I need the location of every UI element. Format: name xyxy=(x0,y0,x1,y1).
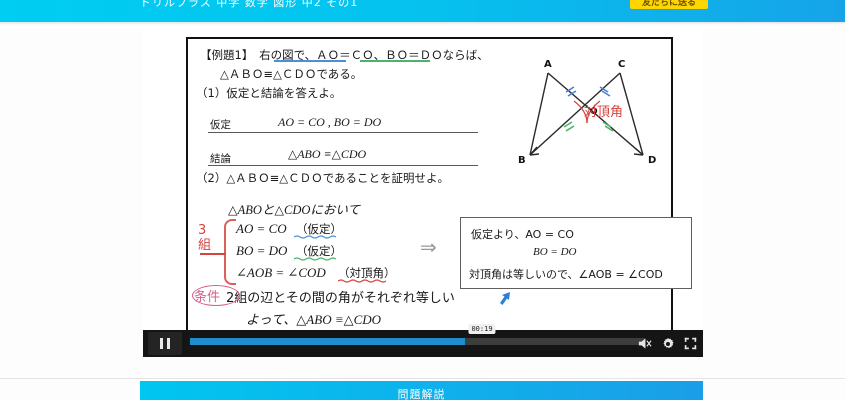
pause-icon-bar-right xyxy=(167,338,170,349)
red-brace-annotation xyxy=(224,219,236,285)
proof-therefore: よって、△ABO ≡△CDO xyxy=(246,309,381,328)
worksheet-document: 【例題1】 右の図で、ＡＯ＝ＣＯ、ＢＯ＝ＤＯならば、 △ＡＢＯ≡△ＣＤＯである。… xyxy=(186,37,673,337)
fullscreen-button[interactable] xyxy=(684,337,697,350)
conclusion-value: △ABO ≡△CDO xyxy=(288,147,366,162)
proof-statement-3: ∠AOB = ∠COD xyxy=(236,265,326,281)
wavy-underline-blue xyxy=(294,235,340,238)
seek-progress-fill xyxy=(190,338,465,345)
play-pause-button[interactable] xyxy=(148,332,182,355)
share-button[interactable]: 友だちに送る xyxy=(630,0,708,9)
geometry-figure: A C B D O 対頂角 xyxy=(508,51,678,181)
section-divider xyxy=(0,378,845,379)
hypothesis-value: AO = CO , BO = DO xyxy=(278,115,381,130)
seek-bar[interactable]: 00:19 xyxy=(190,338,645,345)
figure-caption-vertical-angle: 対頂角 xyxy=(584,106,623,120)
wavy-underline-red xyxy=(338,279,390,282)
pause-icon-bar-left xyxy=(160,338,163,349)
mute-button[interactable] xyxy=(637,336,652,351)
wavy-underline-green xyxy=(294,257,340,260)
app-root: ドリルプラス 中学 数学 図形 中2 その1 友だちに送る 【例題1】 右の図で… xyxy=(0,0,845,400)
question-2: （2）△ＡＢＯ≡△ＣＤＯであることを証明せよ。 xyxy=(196,170,449,186)
svg-text:A: A xyxy=(544,59,552,70)
header-shadow xyxy=(0,22,845,25)
video-frame-content: 【例題1】 右の図で、ＡＯ＝ＣＯ、ＢＯ＝ＤＯならば、 △ＡＢＯ≡△ＣＤＯである。… xyxy=(143,27,703,357)
proof-intro: △ABOと△CDOにおいて xyxy=(228,199,360,218)
svg-text:B: B xyxy=(518,155,526,166)
explanation-tab-label: 問題解説 xyxy=(398,386,446,400)
example-statement: △ＡＢＯ≡△ＣＤＯである。 xyxy=(220,66,362,82)
video-player-stage[interactable]: 【例題1】 右の図で、ＡＯ＝ＣＯ、ＢＯ＝ＤＯならば、 △ＡＢＯ≡△ＣＤＯである。… xyxy=(143,27,703,357)
underline-blue-ao-co xyxy=(274,60,346,62)
annotation-sets-label: 組 xyxy=(198,238,211,253)
svg-text:D: D xyxy=(648,155,656,166)
hypothesis-label: 仮定 xyxy=(210,117,231,132)
implies-arrow: ⇒ xyxy=(420,235,437,260)
answer-line-3: 対頂角は等しいので、∠AOB = ∠COD xyxy=(469,266,663,282)
question-1: （1）仮定と結論を答えよ。 xyxy=(196,85,341,101)
annotation-three-sets: 3 組 xyxy=(198,223,211,253)
annotation-underline xyxy=(200,253,226,255)
proof-statement-2: BO = DO xyxy=(236,243,287,259)
answer-line-1: 仮定より、AO = CO xyxy=(471,226,574,242)
explanation-tab[interactable]: 問題解説 xyxy=(140,381,703,400)
video-controls-bar: 00:19 xyxy=(143,330,703,357)
answer-box: 仮定より、AO = CO BO = DO 対頂角は等しいので、∠AOB = ∠C… xyxy=(460,217,692,289)
conclusion-rule xyxy=(208,165,478,166)
annotation-condition-label: 条件 xyxy=(194,286,220,305)
annotation-three-label: 3 xyxy=(198,223,211,238)
answer-line-2: BO = DO xyxy=(533,246,576,258)
proof-condition: 2組の辺とその間の角がそれぞれ等しい xyxy=(226,287,455,306)
svg-text:C: C xyxy=(618,59,625,70)
settings-button[interactable] xyxy=(661,337,675,351)
time-tooltip: 00:19 xyxy=(468,324,495,334)
top-header-bar: ドリルプラス 中学 数学 図形 中2 その1 友だちに送る xyxy=(0,0,845,22)
controls-icon-group xyxy=(637,330,697,357)
conclusion-label: 結論 xyxy=(210,151,231,166)
hypothesis-rule xyxy=(208,132,478,133)
proof-statement-1: AO = CO xyxy=(236,221,287,237)
cursor-arrow-icon xyxy=(496,291,512,312)
underline-green-bo-do xyxy=(360,60,430,62)
page-title: ドリルプラス 中学 数学 図形 中2 その1 xyxy=(140,0,358,10)
